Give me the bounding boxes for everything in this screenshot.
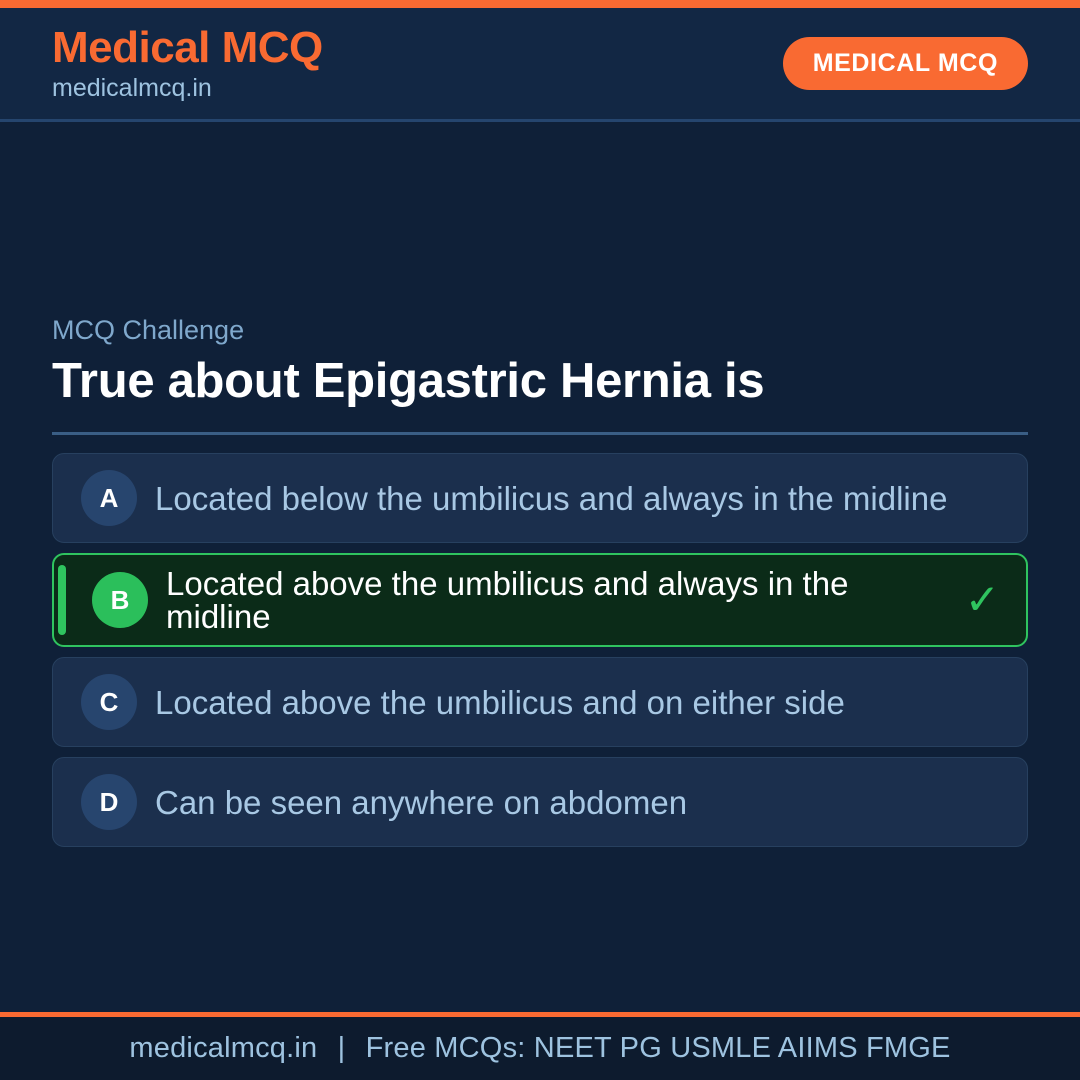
option-text: Located above the umbilicus and on eithe… [155, 686, 1001, 719]
option-text: Located above the umbilicus and always i… [166, 567, 957, 633]
eyebrow-label: MCQ Challenge [52, 314, 1028, 346]
option-letter: D [81, 774, 137, 830]
question-divider [52, 432, 1028, 435]
selected-accent-bar [58, 565, 66, 635]
question-text: True about Epigastric Hernia is [52, 354, 1028, 409]
top-accent-strip [0, 0, 1080, 8]
option-d[interactable]: D Can be seen anywhere on abdomen [52, 757, 1028, 847]
options-list: A Located below the umbilicus and always… [52, 453, 1028, 847]
footer-text: medicalmcq.in | Free MCQs: NEET PG USMLE… [129, 1032, 950, 1065]
header-badge: MEDICAL MCQ [783, 37, 1028, 90]
header-bar: Medical MCQ medicalmcq.in MEDICAL MCQ [0, 8, 1080, 122]
main-content: MCQ Challenge True about Epigastric Hern… [0, 122, 1080, 1012]
option-letter: B [92, 572, 148, 628]
footer-separator: | [326, 1032, 358, 1064]
option-text: Located below the umbilicus and always i… [155, 482, 1001, 515]
option-b[interactable]: B Located above the umbilicus and always… [52, 553, 1028, 647]
footer-bar: medicalmcq.in | Free MCQs: NEET PG USMLE… [0, 1012, 1080, 1080]
question-block: MCQ Challenge True about Epigastric Hern… [52, 314, 1028, 453]
footer-site: medicalmcq.in [129, 1032, 317, 1064]
footer-exams: NEET PG USMLE AIIMS FMGE [534, 1032, 951, 1064]
brand-subtitle: medicalmcq.in [52, 73, 323, 104]
brand-block: Medical MCQ medicalmcq.in [52, 25, 323, 104]
option-a[interactable]: A Located below the umbilicus and always… [52, 453, 1028, 543]
option-letter: A [81, 470, 137, 526]
brand-title: Medical MCQ [52, 25, 323, 71]
poster-root: Medical MCQ medicalmcq.in MEDICAL MCQ MC… [0, 0, 1080, 1080]
option-c[interactable]: C Located above the umbilicus and on eit… [52, 657, 1028, 747]
option-text: Can be seen anywhere on abdomen [155, 786, 1001, 819]
footer-label: Free MCQs: [366, 1032, 526, 1064]
option-letter: C [81, 674, 137, 730]
check-icon: ✓ [965, 579, 1000, 621]
